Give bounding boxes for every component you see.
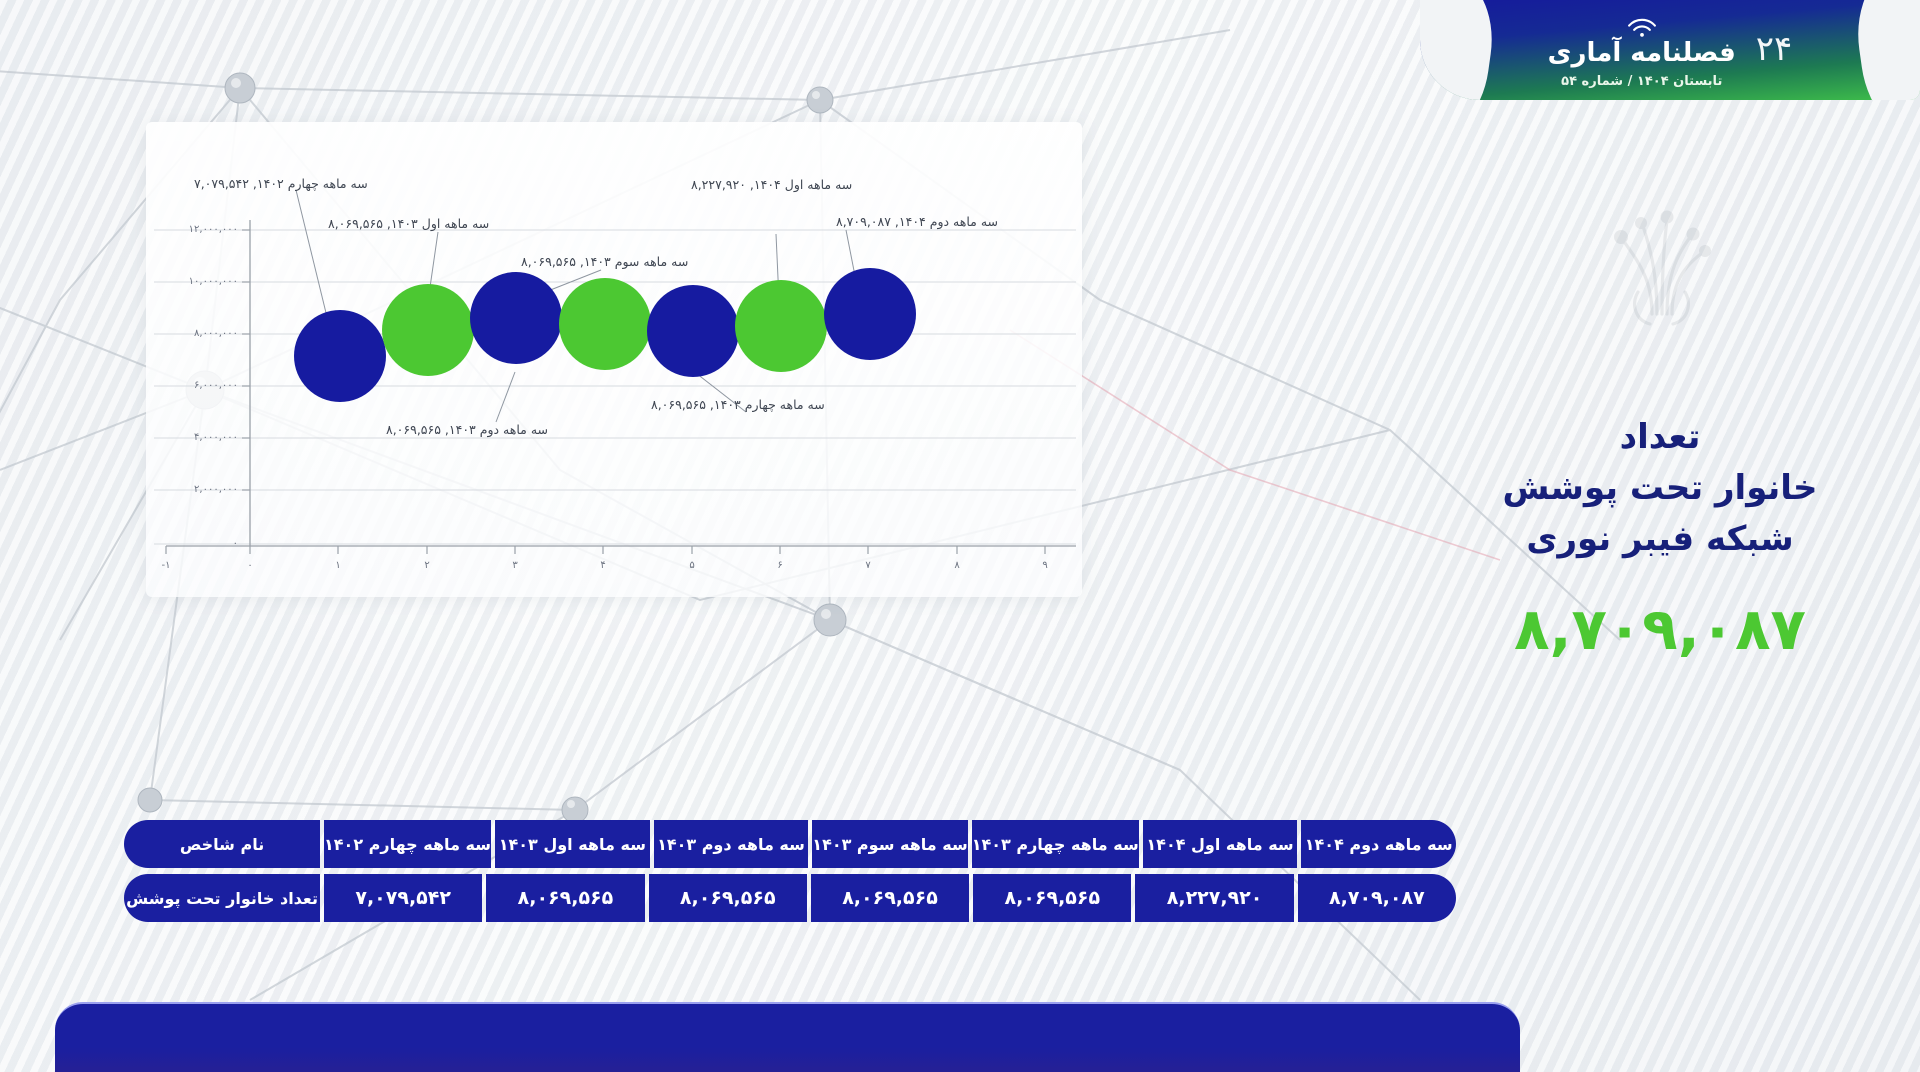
chart-card: ۱۲,۰۰۰,۰۰۰ ۱۰,۰۰۰,۰۰۰ ۸,۰۰۰,۰۰۰ ۶,۰۰۰,۰۰…	[146, 122, 1082, 597]
table-column-header: سه ماهه اول ۱۴۰۳	[495, 820, 650, 868]
table-cell-value: ۸,۰۶۹,۵۶۵	[649, 874, 807, 922]
header-ribbon: ۲۴ فصلنامه آماری تابستان ۱۴۰۴ / شماره ۵۴	[1420, 0, 1920, 100]
page-number: ۲۴	[1756, 29, 1793, 69]
table-column-header: سه ماهه اول ۱۴۰۴	[1143, 820, 1298, 868]
chart-annotation-1: سه ماهه چهارم ۱۴۰۲, ۷,۰۷۹,۵۴۲	[194, 176, 368, 191]
table-cell-value: ۷,۰۷۹,۵۴۲	[324, 874, 482, 922]
table-column-header: سه ماهه سوم ۱۴۰۳	[812, 820, 967, 868]
table-cell-value: ۸,۰۶۹,۵۶۵	[486, 874, 644, 922]
bubble-point-6[interactable]	[735, 280, 827, 372]
chart-annotation-5: سه ماهه چهارم ۱۴۰۳, ۸,۰۶۹,۵۶۵	[651, 397, 825, 412]
bubble-point-2[interactable]	[382, 284, 474, 376]
chart-annotation-3: سه ماهه دوم ۱۴۰۳, ۸,۰۶۹,۵۶۵	[386, 422, 548, 437]
table-cell-value: ۸,۰۶۹,۵۶۵	[973, 874, 1131, 922]
table-column-header: سه ماهه دوم ۱۴۰۴	[1301, 820, 1456, 868]
chart-annotation-4: سه ماهه سوم ۱۴۰۳, ۸,۰۶۹,۵۶۵	[521, 254, 688, 269]
panel-title: تعداد خانوار تحت پوشش شبکه فیبر نوری	[1502, 412, 1817, 565]
panel-title-line-2: خانوار تحت پوشش	[1502, 463, 1817, 514]
bubble-point-4[interactable]	[559, 278, 651, 370]
data-table: سه ماهه دوم ۱۴۰۴ سه ماهه اول ۱۴۰۴ سه ماه…	[124, 820, 1456, 922]
brand-subtitle: تابستان ۱۴۰۴ / شماره ۵۴	[1548, 74, 1736, 89]
table-cell-value: ۸,۷۰۹,۰۸۷	[1298, 874, 1456, 922]
bubble-point-1[interactable]	[294, 310, 386, 402]
chart-annotation-7: سه ماهه دوم ۱۴۰۴, ۸,۷۰۹,۰۸۷	[836, 214, 998, 229]
table-column-header: سه ماهه چهارم ۱۴۰۳	[972, 820, 1139, 868]
table-row-header-label: نام شاخص	[124, 820, 320, 868]
brand-name: فصلنامه آماری	[1548, 39, 1736, 68]
bubble-chart: ۱۲,۰۰۰,۰۰۰ ۱۰,۰۰۰,۰۰۰ ۸,۰۰۰,۰۰۰ ۶,۰۰۰,۰۰…	[146, 122, 1082, 597]
panel-title-line-3: شبکه فیبر نوری	[1502, 514, 1817, 565]
panel-title-line-1: تعداد	[1502, 412, 1817, 463]
fiber-optic-icon	[1595, 196, 1725, 336]
bubble-point-7[interactable]	[824, 268, 916, 360]
brand-block: فصلنامه آماری تابستان ۱۴۰۴ / شماره ۵۴	[1548, 17, 1736, 90]
bubble-point-3[interactable]	[470, 272, 562, 364]
table-column-header: سه ماهه دوم ۱۴۰۳	[654, 820, 809, 868]
bubble-point-5[interactable]	[647, 285, 739, 377]
table-row-label: تعداد خانوار تحت پوشش	[124, 874, 320, 922]
table-header-row: سه ماهه دوم ۱۴۰۴ سه ماهه اول ۱۴۰۴ سه ماه…	[124, 820, 1456, 868]
panel-highlight-value: ۸,۷۰۹,۰۸۷	[1514, 595, 1806, 663]
table-row: ۸,۷۰۹,۰۸۷ ۸,۲۲۷,۹۲۰ ۸,۰۶۹,۵۶۵ ۸,۰۶۹,۵۶۵ …	[124, 874, 1456, 922]
summary-panel: تعداد خانوار تحت پوشش شبکه فیبر نوری ۸,۷…	[1400, 110, 1920, 750]
table-column-header: سه ماهه چهارم ۱۴۰۲	[324, 820, 491, 868]
wifi-icon	[1620, 17, 1664, 37]
table-cell-value: ۸,۲۲۷,۹۲۰	[1135, 874, 1293, 922]
bottom-bar	[55, 1002, 1520, 1072]
chart-annotation-6: سه ماهه اول ۱۴۰۴, ۸,۲۲۷,۹۲۰	[691, 177, 852, 192]
table-cell-value: ۸,۰۶۹,۵۶۵	[811, 874, 969, 922]
chart-annotation-2: سه ماهه اول ۱۴۰۳, ۸,۰۶۹,۵۶۵	[328, 216, 489, 231]
